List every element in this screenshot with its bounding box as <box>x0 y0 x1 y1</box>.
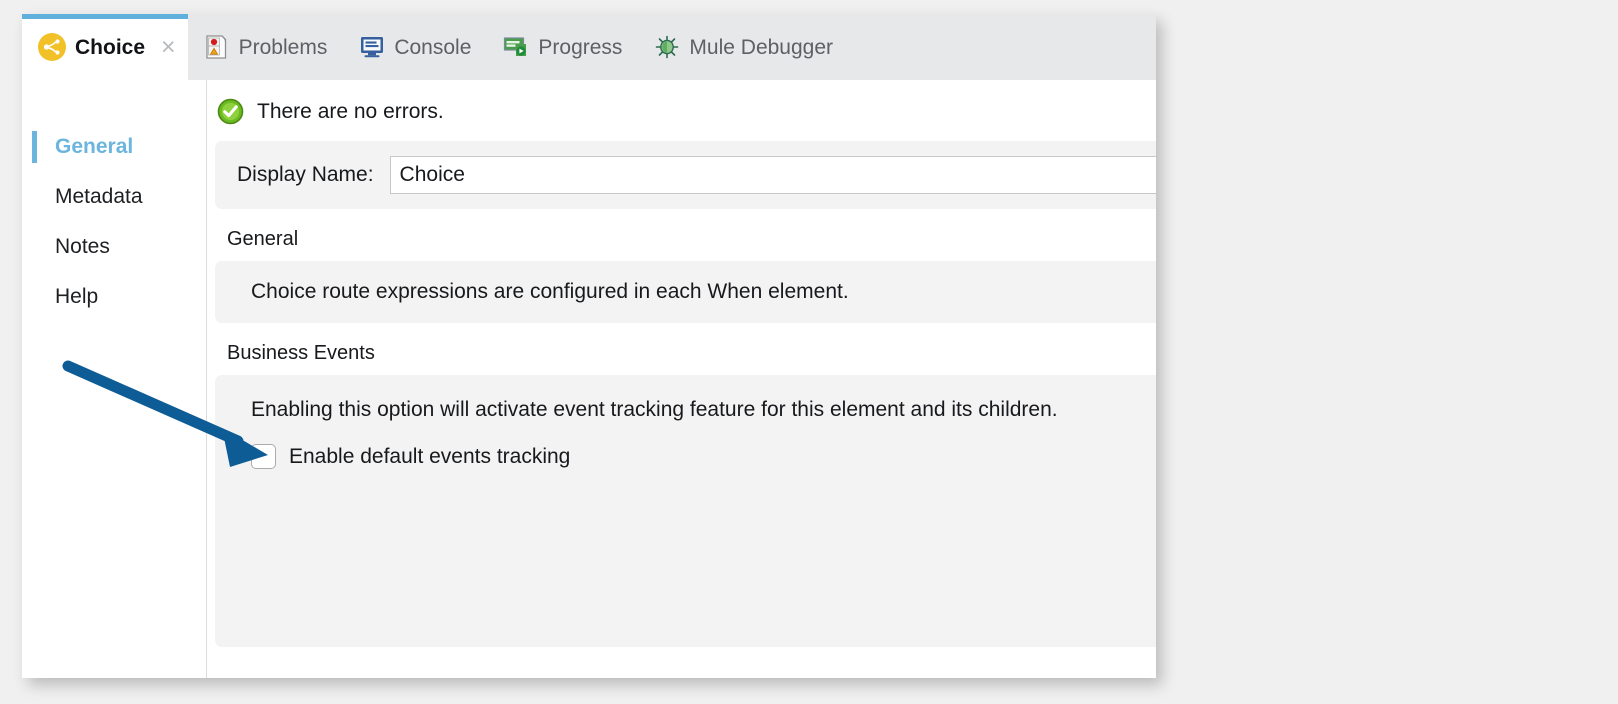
tab-label: Mule Debugger <box>689 37 833 58</box>
tab-label: Console <box>394 37 471 58</box>
progress-icon <box>503 36 529 58</box>
general-section-card: Choice route expressions are configured … <box>215 261 1156 323</box>
status-message: There are no errors. <box>207 80 1156 141</box>
section-title-business-events: Business Events <box>207 323 1156 375</box>
tab-console[interactable]: Console <box>343 14 487 80</box>
bug-icon <box>654 34 680 60</box>
tab-label: Choice <box>75 37 145 58</box>
display-name-input[interactable] <box>390 156 1156 194</box>
console-icon <box>359 35 385 59</box>
sidebar-item-help[interactable]: Help <box>22 272 206 322</box>
choice-icon <box>38 33 66 61</box>
panel-body: General Metadata Notes Help <box>22 80 1156 678</box>
sidebar-item-label: Help <box>55 285 98 309</box>
tab-choice[interactable]: Choice × <box>22 14 188 80</box>
section-title-general: General <box>207 209 1156 261</box>
enable-default-events-tracking-checkbox[interactable] <box>251 444 276 469</box>
close-icon[interactable]: × <box>161 35 176 60</box>
sidebar-item-label: General <box>55 135 133 159</box>
properties-sidebar: General Metadata Notes Help <box>22 80 207 678</box>
display-name-row: Display Name: <box>215 141 1156 209</box>
tab-progress[interactable]: Progress <box>487 14 638 80</box>
tab-problems[interactable]: Problems <box>188 14 344 80</box>
tab-label: Problems <box>239 37 328 58</box>
success-check-icon <box>217 98 244 125</box>
enable-default-events-tracking-row[interactable]: Enable default events tracking <box>251 444 1156 469</box>
sidebar-item-label: Notes <box>55 235 110 259</box>
enable-default-events-tracking-label: Enable default events tracking <box>289 445 570 469</box>
business-events-card: Enabling this option will activate event… <box>215 375 1156 647</box>
problems-icon <box>204 34 230 60</box>
status-text: There are no errors. <box>257 100 444 124</box>
tab-label: Progress <box>538 37 622 58</box>
general-description: Choice route expressions are configured … <box>251 280 849 304</box>
tab-mule-debugger[interactable]: Mule Debugger <box>638 14 849 80</box>
properties-panel: Choice × Problems <box>22 14 1156 678</box>
properties-content: There are no errors. Display Name: Gener… <box>207 80 1156 678</box>
display-name-label: Display Name: <box>237 163 374 187</box>
sidebar-item-label: Metadata <box>55 185 143 209</box>
tab-bar: Choice × Problems <box>22 14 1156 80</box>
sidebar-item-metadata[interactable]: Metadata <box>22 172 206 222</box>
sidebar-item-notes[interactable]: Notes <box>22 222 206 272</box>
business-events-description: Enabling this option will activate event… <box>251 397 1156 423</box>
sidebar-item-general[interactable]: General <box>22 122 206 172</box>
